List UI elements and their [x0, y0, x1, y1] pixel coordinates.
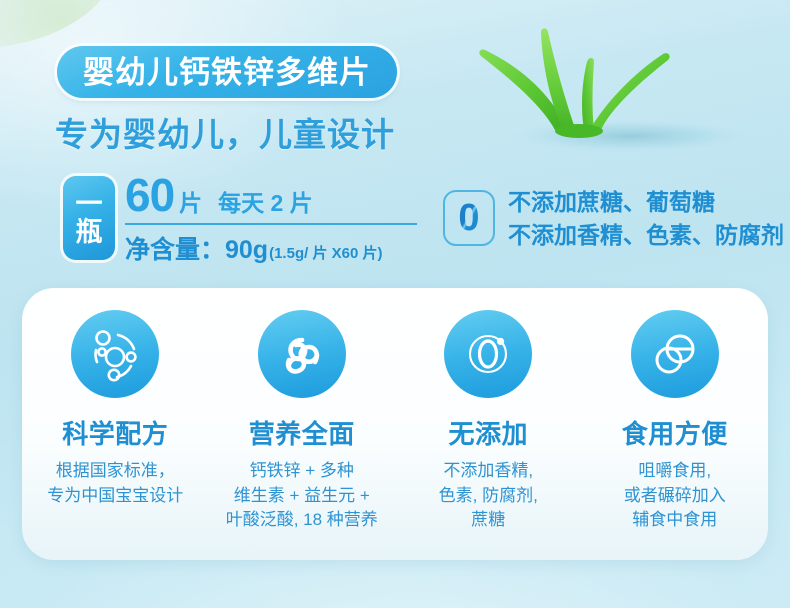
specification-block: 60 片 每天 2 片 净含量：90g (1.5g/ 片 X60 片) [125, 172, 425, 266]
feature-item-complete-nutrition: 营养全面 钙铁锌 + 多种 维生素 + 益生元 + 叶酸泛酸, 18 种营养 [209, 310, 396, 560]
feature-title: 食用方便 [622, 414, 728, 451]
corner-green-wash [0, 0, 120, 48]
molecule-icon [71, 310, 159, 398]
feature-item-no-additives: 无添加 不添加香精, 色素, 防腐剂, 蔗糖 [395, 310, 582, 560]
net-weight-detail: (1.5g/ 片 X60 片) [269, 242, 382, 263]
feature-title: 科学配方 [62, 414, 168, 451]
feature-item-easy-to-take: 食用方便 咀嚼食用, 或者碾碎加入 辅食中食用 [582, 310, 769, 560]
no-additive-text-block: 不添加蔗糖、葡萄糖 不添加香精、色素、防腐剂 [508, 186, 784, 251]
tablet-count-value: 60 [125, 172, 174, 218]
feature-title: 营养全面 [249, 414, 355, 451]
zero-additive-badge-text: 0 [458, 199, 479, 237]
tablet-count-unit: 片 [179, 184, 202, 218]
one-bottle-badge-line1: 一 [76, 190, 103, 218]
product-title-text: 婴幼儿钙铁锌多维片 [83, 57, 371, 88]
one-bottle-badge-line2: 瓶 [76, 218, 103, 246]
no-additive-line-2: 不添加香精、色素、防腐剂 [508, 219, 784, 252]
zero-orbit-icon [444, 310, 532, 398]
spec-divider [125, 223, 417, 225]
net-weight-line: 净含量：90g (1.5g/ 片 X60 片) [125, 230, 425, 266]
net-weight-label: 净含量：90g [125, 230, 268, 266]
product-banner: 婴幼儿钙铁锌多维片 专为婴幼儿，儿童设计 一 瓶 60 片 每天 2 片 净含量… [0, 0, 790, 608]
tablet-count-line: 60 片 每天 2 片 [125, 172, 425, 222]
feature-item-scientific-formula: 科学配方 根据国家标准， 专为中国宝宝设计 [22, 310, 209, 560]
feature-title: 无添加 [448, 414, 528, 451]
feature-card: 科学配方 根据国家标准， 专为中国宝宝设计 营养全面 钙铁锌 + 多种 维生素 … [22, 288, 768, 560]
green-grass-sprout-illustration [455, 12, 775, 172]
feature-description: 不添加香精, 色素, 防腐剂, 蔗糖 [439, 459, 538, 533]
feature-description: 咀嚼食用, 或者碾碎加入 辅食中食用 [624, 459, 726, 533]
product-subtitle: 专为婴幼儿，儿童设计 [55, 108, 395, 156]
two-tablets-icon [631, 310, 719, 398]
daily-dose-text: 每天 2 片 [218, 184, 313, 218]
feature-description: 钙铁锌 + 多种 维生素 + 益生元 + 叶酸泛酸, 18 种营养 [226, 459, 378, 533]
no-additive-line-1: 不添加蔗糖、葡萄糖 [508, 186, 784, 219]
feature-description: 根据国家标准， 专为中国宝宝设计 [47, 459, 183, 508]
product-title-badge: 婴幼儿钙铁锌多维片 [57, 46, 397, 98]
zero-additive-badge: 0 [443, 190, 495, 246]
one-bottle-badge: 一 瓶 [63, 176, 115, 260]
trefoil-knot-icon [258, 310, 346, 398]
